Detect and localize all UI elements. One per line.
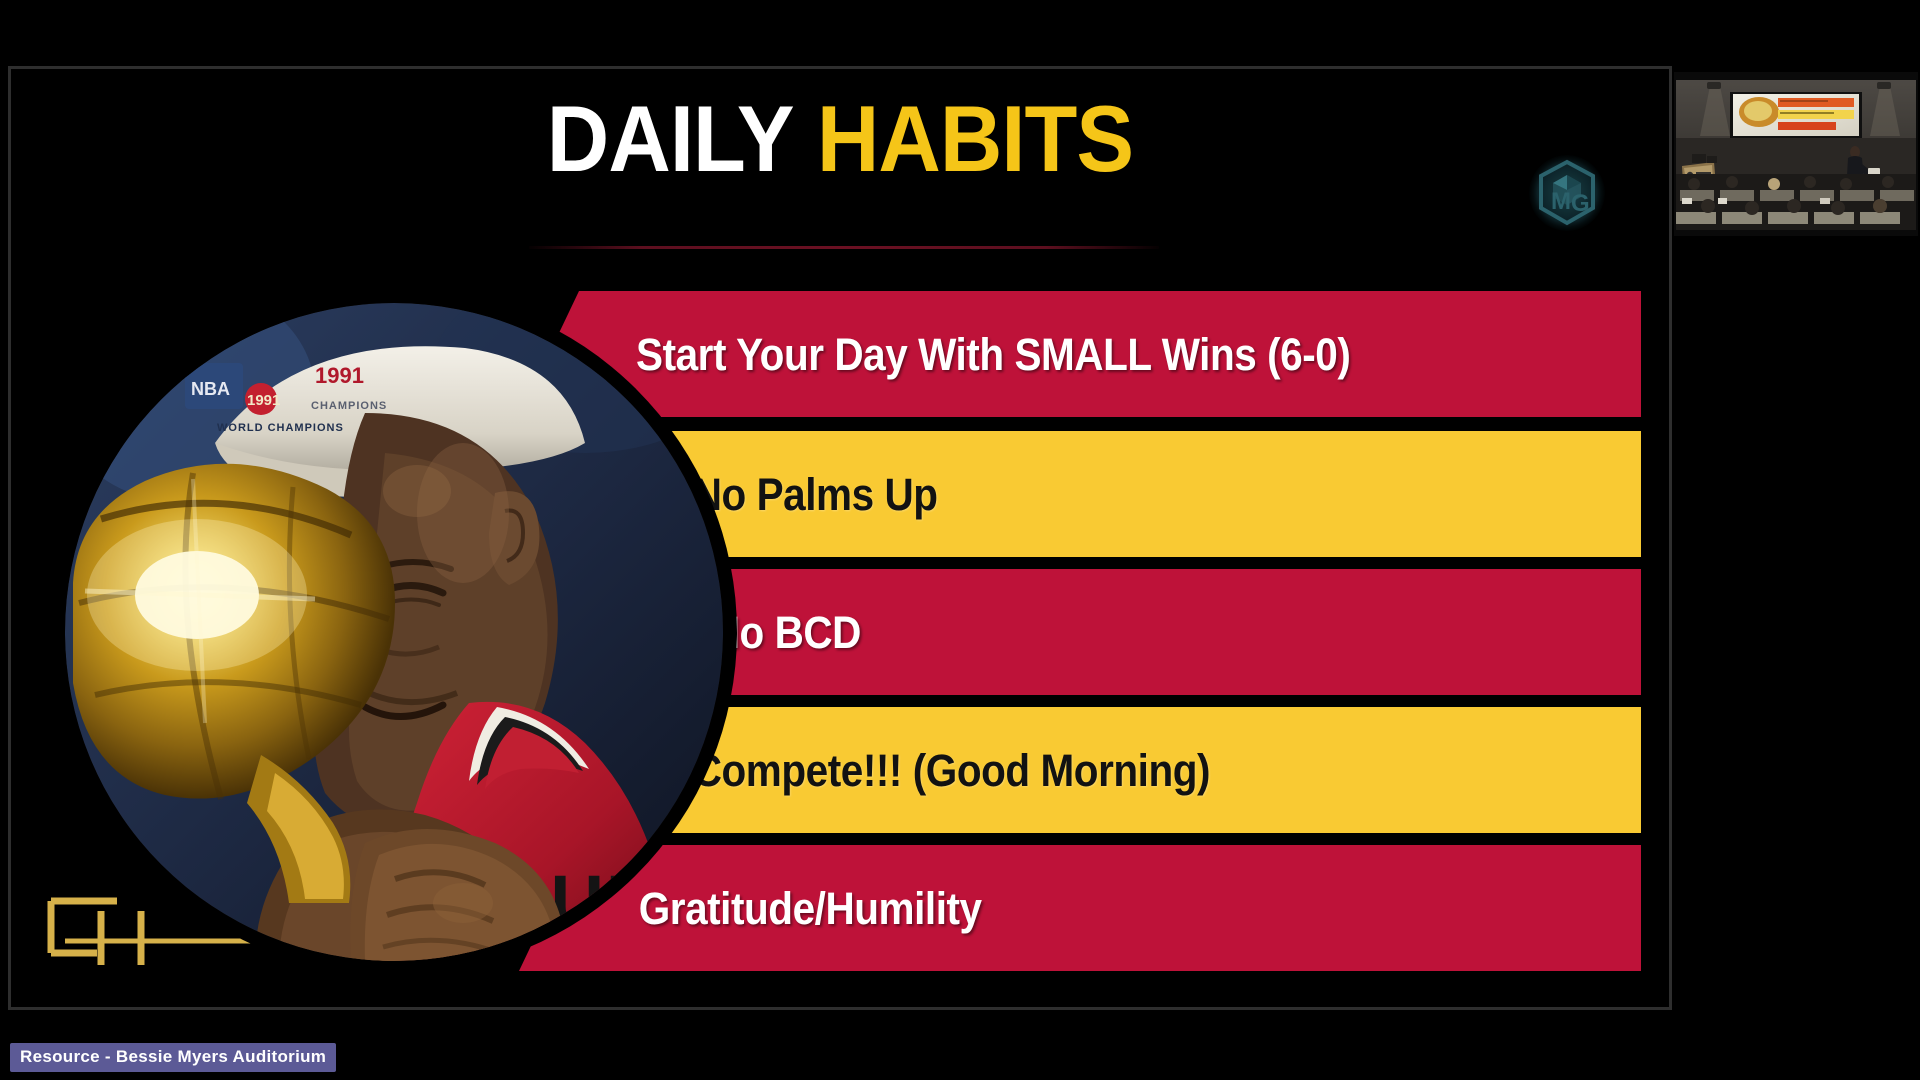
svg-text:1991: 1991 [315, 363, 364, 388]
svg-text:G: G [1571, 190, 1590, 217]
webcam-thumbnail[interactable] [1674, 72, 1918, 236]
mg-logo-icon: M G [1527, 153, 1607, 233]
title-primary: DAILY [547, 86, 794, 191]
habit-bar: Start Your Day With SMALL Wins (6-0) [519, 291, 1641, 417]
screen-share-stage: DAILY HABITS M G [0, 0, 1920, 1080]
title-underline [529, 246, 1159, 249]
svg-text:WORLD CHAMPIONS: WORLD CHAMPIONS [217, 422, 344, 434]
presentation-slide: DAILY HABITS M G [8, 66, 1672, 1010]
svg-text:NBA: NBA [191, 379, 230, 399]
circular-photo-icon: 1991 WORLD CHAMPIONS 1991 CHAMPIONS NBA [65, 303, 723, 961]
svg-text:M: M [1551, 188, 1571, 215]
page-title: DAILY HABITS [77, 89, 1602, 189]
title-accent: HABITS [817, 86, 1133, 191]
habit-label: Start Your Day With SMALL Wins (6-0) [519, 332, 1350, 377]
svg-text:1991: 1991 [247, 392, 280, 409]
svg-text:CHAMPIONS: CHAMPIONS [311, 400, 387, 412]
avatar: 1991 WORLD CHAMPIONS 1991 CHAMPIONS NBA [53, 291, 735, 973]
status-badge: Resource - Bessie Myers Auditorium [10, 1043, 336, 1072]
habit-bar: Gratitude/Humility [519, 845, 1641, 971]
